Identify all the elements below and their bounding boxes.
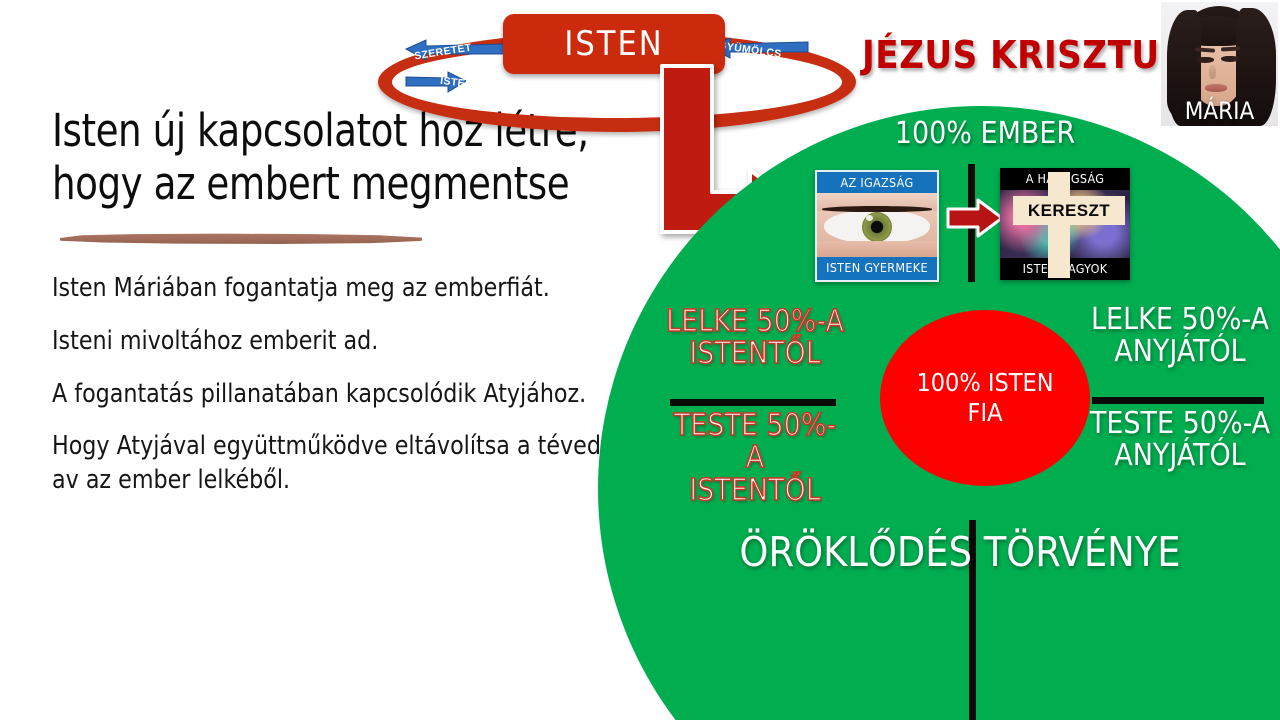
maria-caption: MÁRIA	[1161, 97, 1278, 125]
cross-label: KERESZT	[1013, 196, 1125, 225]
card-truth-footer: ISTEN GYERMEKE	[817, 257, 937, 278]
eye-lash	[822, 206, 932, 212]
quadrant-label-teste-istentol: TESTE 50%-A ISTENTŐL	[665, 410, 845, 507]
divider-horizontal-right	[1092, 397, 1264, 404]
label-100-percent-ember: 100% EMBER	[890, 116, 1080, 151]
card-truth-header: AZ IGAZSÁG	[817, 172, 937, 193]
list-item: Isteni mivoltához emberit ad.	[52, 325, 708, 359]
label-oroklodes-torvenye: ÖRÖKLŐDÉS TÖRVÉNYE	[700, 528, 1220, 576]
list-item: Isten Máriában fogantatja meg az emberfi…	[52, 272, 708, 306]
quadrant-label-lelke-anyjatol: LELKE 50%-A ANYJÁTÓL	[1086, 304, 1274, 369]
quadrant-label-teste-anyjatol: TESTE 50%-A ANYJÁTÓL	[1086, 408, 1274, 473]
center-core: 100% ISTEN FIA	[880, 310, 1090, 486]
eye-photo	[817, 193, 937, 257]
eye-glint	[866, 215, 873, 221]
eye-left	[1196, 57, 1214, 63]
nose	[1209, 65, 1216, 79]
lips	[1205, 84, 1227, 92]
eye-lower-lid	[817, 241, 937, 257]
isten-box-label: ISTEN	[564, 24, 663, 64]
divider-horizontal-left	[670, 399, 836, 406]
eye-right	[1221, 56, 1239, 62]
maria-photo: MÁRIA	[1161, 2, 1278, 126]
slide-canvas: Isten új kapcsolatot hoz létre, hogy az …	[0, 0, 1280, 720]
center-core-line2: FIA	[968, 398, 1003, 429]
quadrant-label-lelke-istentol: LELKE 50%-A ISTENTŐL	[665, 306, 845, 371]
brush-underline-decoration	[60, 233, 422, 244]
card-transition-arrow-icon	[944, 196, 1006, 240]
cross-icon-vertical	[1048, 172, 1070, 278]
card-truth: AZ IGAZSÁG ISTEN GYERMEKE	[815, 170, 939, 282]
center-core-line1: 100% ISTEN	[916, 368, 1053, 399]
heading-jezus-krisztus: JÉZUS KRISZTUS	[862, 33, 1185, 77]
